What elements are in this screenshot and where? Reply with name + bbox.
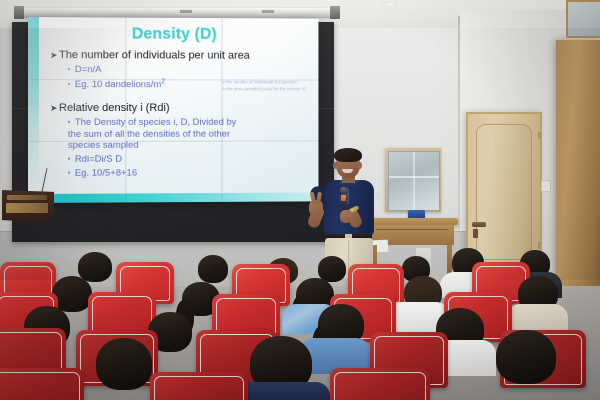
roller-tick — [180, 10, 192, 13]
roller-bracket-left — [14, 6, 24, 19]
roller-tick — [262, 10, 274, 13]
lighting-shadow — [0, 28, 600, 280]
ceiling-light — [382, 2, 398, 7]
lecture-hall-photo: Density (D) ➤The number of individuals p… — [0, 0, 600, 400]
audience-head — [52, 276, 92, 312]
seat[interactable] — [330, 368, 430, 400]
audience-head — [96, 338, 152, 390]
roller-bracket-right — [330, 6, 340, 19]
seat[interactable] — [150, 372, 248, 400]
seat[interactable] — [0, 368, 84, 400]
audience-head — [496, 330, 556, 384]
projection-screen-roller — [18, 8, 338, 17]
